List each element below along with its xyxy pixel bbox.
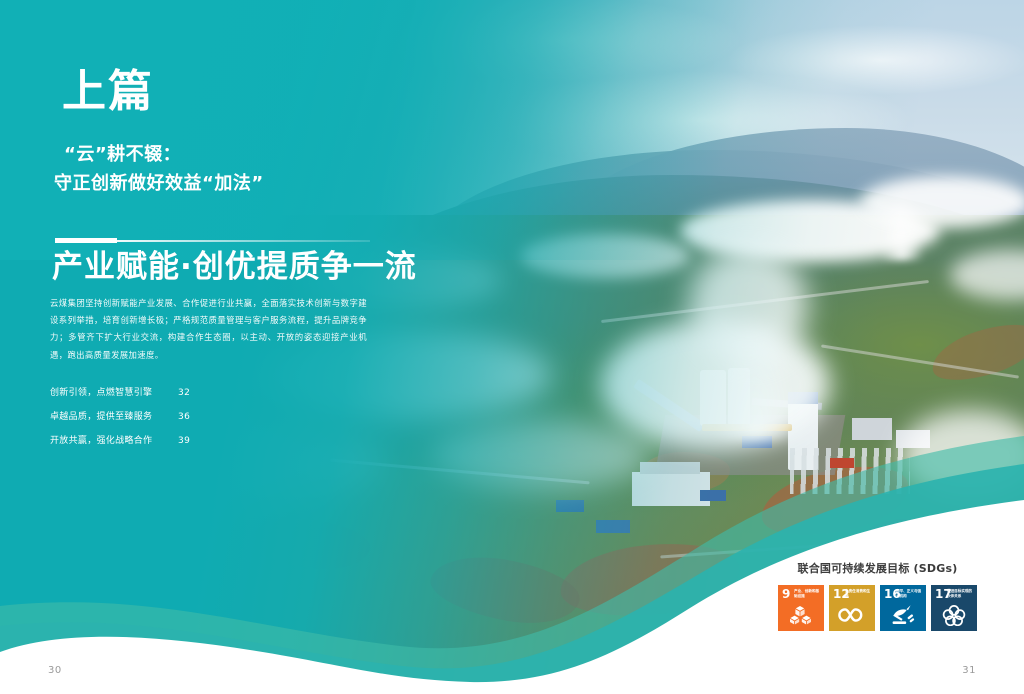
divider-thick-segment [55, 238, 117, 243]
sdg-goal-number: 9 [782, 588, 790, 600]
intro-paragraph: 云煤集团坚持创新赋能产业发展、合作促进行业共赢，全面落实技术创新与数字建设系列举… [50, 295, 367, 364]
section-subtitle: “云”耕不辍： 守正创新做好效益“加法” [54, 140, 474, 198]
divider-thin-segment [117, 240, 370, 242]
sdg-block-title: 联合国可持续发展目标 (SDGs) [770, 560, 985, 576]
toc-entry-title: 开放共赢，强化战略合作 [50, 433, 178, 446]
toc-entry-title: 卓越品质，提供至臻服务 [50, 409, 178, 422]
toc-entry-title: 创新引领，点燃智慧引擎 [50, 385, 178, 398]
sdg-goal-label: 产业、创新和基础设施 [794, 589, 822, 598]
infinity-icon [829, 602, 875, 628]
sdg-goal-label: 促进目标实现的伙伴关系 [947, 589, 975, 598]
sdg-goal-9[interactable]: 9 产业、创新和基础设施 [778, 585, 824, 631]
partnership-rings-icon [931, 602, 977, 628]
section-label: 上篇 [62, 70, 154, 114]
sdg-goal-label: 和平、正义与强大机构 [896, 589, 924, 598]
report-section-divider-page: 上篇 “云”耕不辍： 守正创新做好效益“加法” 产业赋能·创优提质争一流 云煤集… [0, 0, 1024, 694]
title-divider [55, 238, 370, 243]
sdg-goal-17[interactable]: 17 促进目标实现的伙伴关系 [931, 585, 977, 631]
page-title: 产业赋能·创优提质争一流 [52, 248, 417, 287]
table-of-contents: 创新引领，点燃智慧引擎 32 卓越品质，提供至臻服务 36 开放共赢，强化战略合… [50, 385, 250, 457]
content-layer: 上篇 “云”耕不辍： 守正创新做好效益“加法” 产业赋能·创优提质争一流 云煤集… [0, 0, 1024, 694]
sdg-goal-label: 负责任消费和生产 [845, 589, 873, 598]
subtitle-line-1: “云”耕不辍： [64, 140, 474, 169]
sdg-icon-row: 9 产业、创新和基础设施 [770, 585, 985, 631]
industry-cubes-icon [778, 602, 824, 628]
toc-entry[interactable]: 创新引领，点燃智慧引擎 32 [50, 385, 250, 398]
toc-entry-page: 36 [178, 412, 190, 422]
sdg-goal-12[interactable]: 12 负责任消费和生产 [829, 585, 875, 631]
subtitle-line-2: 守正创新做好效益“加法” [54, 169, 474, 198]
page-number-right: 31 [962, 665, 976, 676]
toc-entry-page: 39 [178, 436, 190, 446]
toc-entry-page: 32 [178, 388, 190, 398]
sdg-block: 联合国可持续发展目标 (SDGs) 9 产业、创新和基础设施 [770, 560, 985, 631]
peace-dove-gavel-icon [880, 602, 926, 628]
sdg-goal-16[interactable]: 16 和平、正义与强大机构 [880, 585, 926, 631]
toc-entry[interactable]: 开放共赢，强化战略合作 39 [50, 433, 250, 446]
page-number-left: 30 [48, 665, 62, 676]
toc-entry[interactable]: 卓越品质，提供至臻服务 36 [50, 409, 250, 422]
